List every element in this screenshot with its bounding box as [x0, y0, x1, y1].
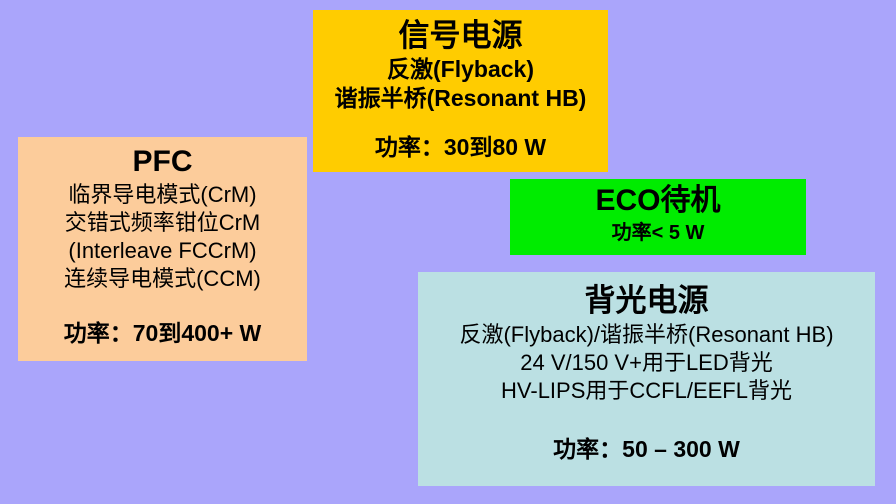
pfc-line-2: 交错式频率钳位CrM [18, 209, 307, 237]
signal-power-line-1: 反激(Flyback) [313, 55, 608, 84]
pfc-line-1: 临界导电模式(CrM) [18, 181, 307, 209]
pfc-line-3: (Interleave FCCrM) [18, 237, 307, 265]
backlight-power-line-1: 反激(Flyback)/谐振半桥(Resonant HB) [418, 321, 875, 349]
backlight-power-block: 背光电源 反激(Flyback)/谐振半桥(Resonant HB) 24 V/… [418, 272, 875, 486]
backlight-power-line-3: HV-LIPS用于CCFL/EEFL背光 [418, 377, 875, 405]
pfc-power-label: 功率：70到400+ W [18, 319, 307, 347]
pfc-title: PFC [18, 144, 307, 180]
signal-power-power-label: 功率：30到80 W [313, 133, 608, 161]
pfc-block: PFC 临界导电模式(CrM) 交错式频率钳位CrM (Interleave F… [18, 137, 307, 361]
backlight-power-line-2: 24 V/150 V+用于LED背光 [418, 349, 875, 377]
pfc-line-4: 连续导电模式(CCM) [18, 265, 307, 293]
signal-power-line-2: 谐振半桥(Resonant HB) [313, 84, 608, 113]
eco-standby-power-label: 功率< 5 W [510, 220, 806, 246]
backlight-power-title: 背光电源 [418, 281, 875, 320]
signal-power-block: 信号电源 反激(Flyback) 谐振半桥(Resonant HB) 功率：30… [313, 10, 608, 172]
eco-standby-block: ECO待机 功率< 5 W [510, 179, 806, 255]
signal-power-title: 信号电源 [313, 16, 608, 55]
slide-canvas: PFC 临界导电模式(CrM) 交错式频率钳位CrM (Interleave F… [0, 0, 896, 504]
backlight-power-power-label: 功率：50 – 300 W [418, 435, 875, 463]
eco-standby-title: ECO待机 [510, 183, 806, 219]
